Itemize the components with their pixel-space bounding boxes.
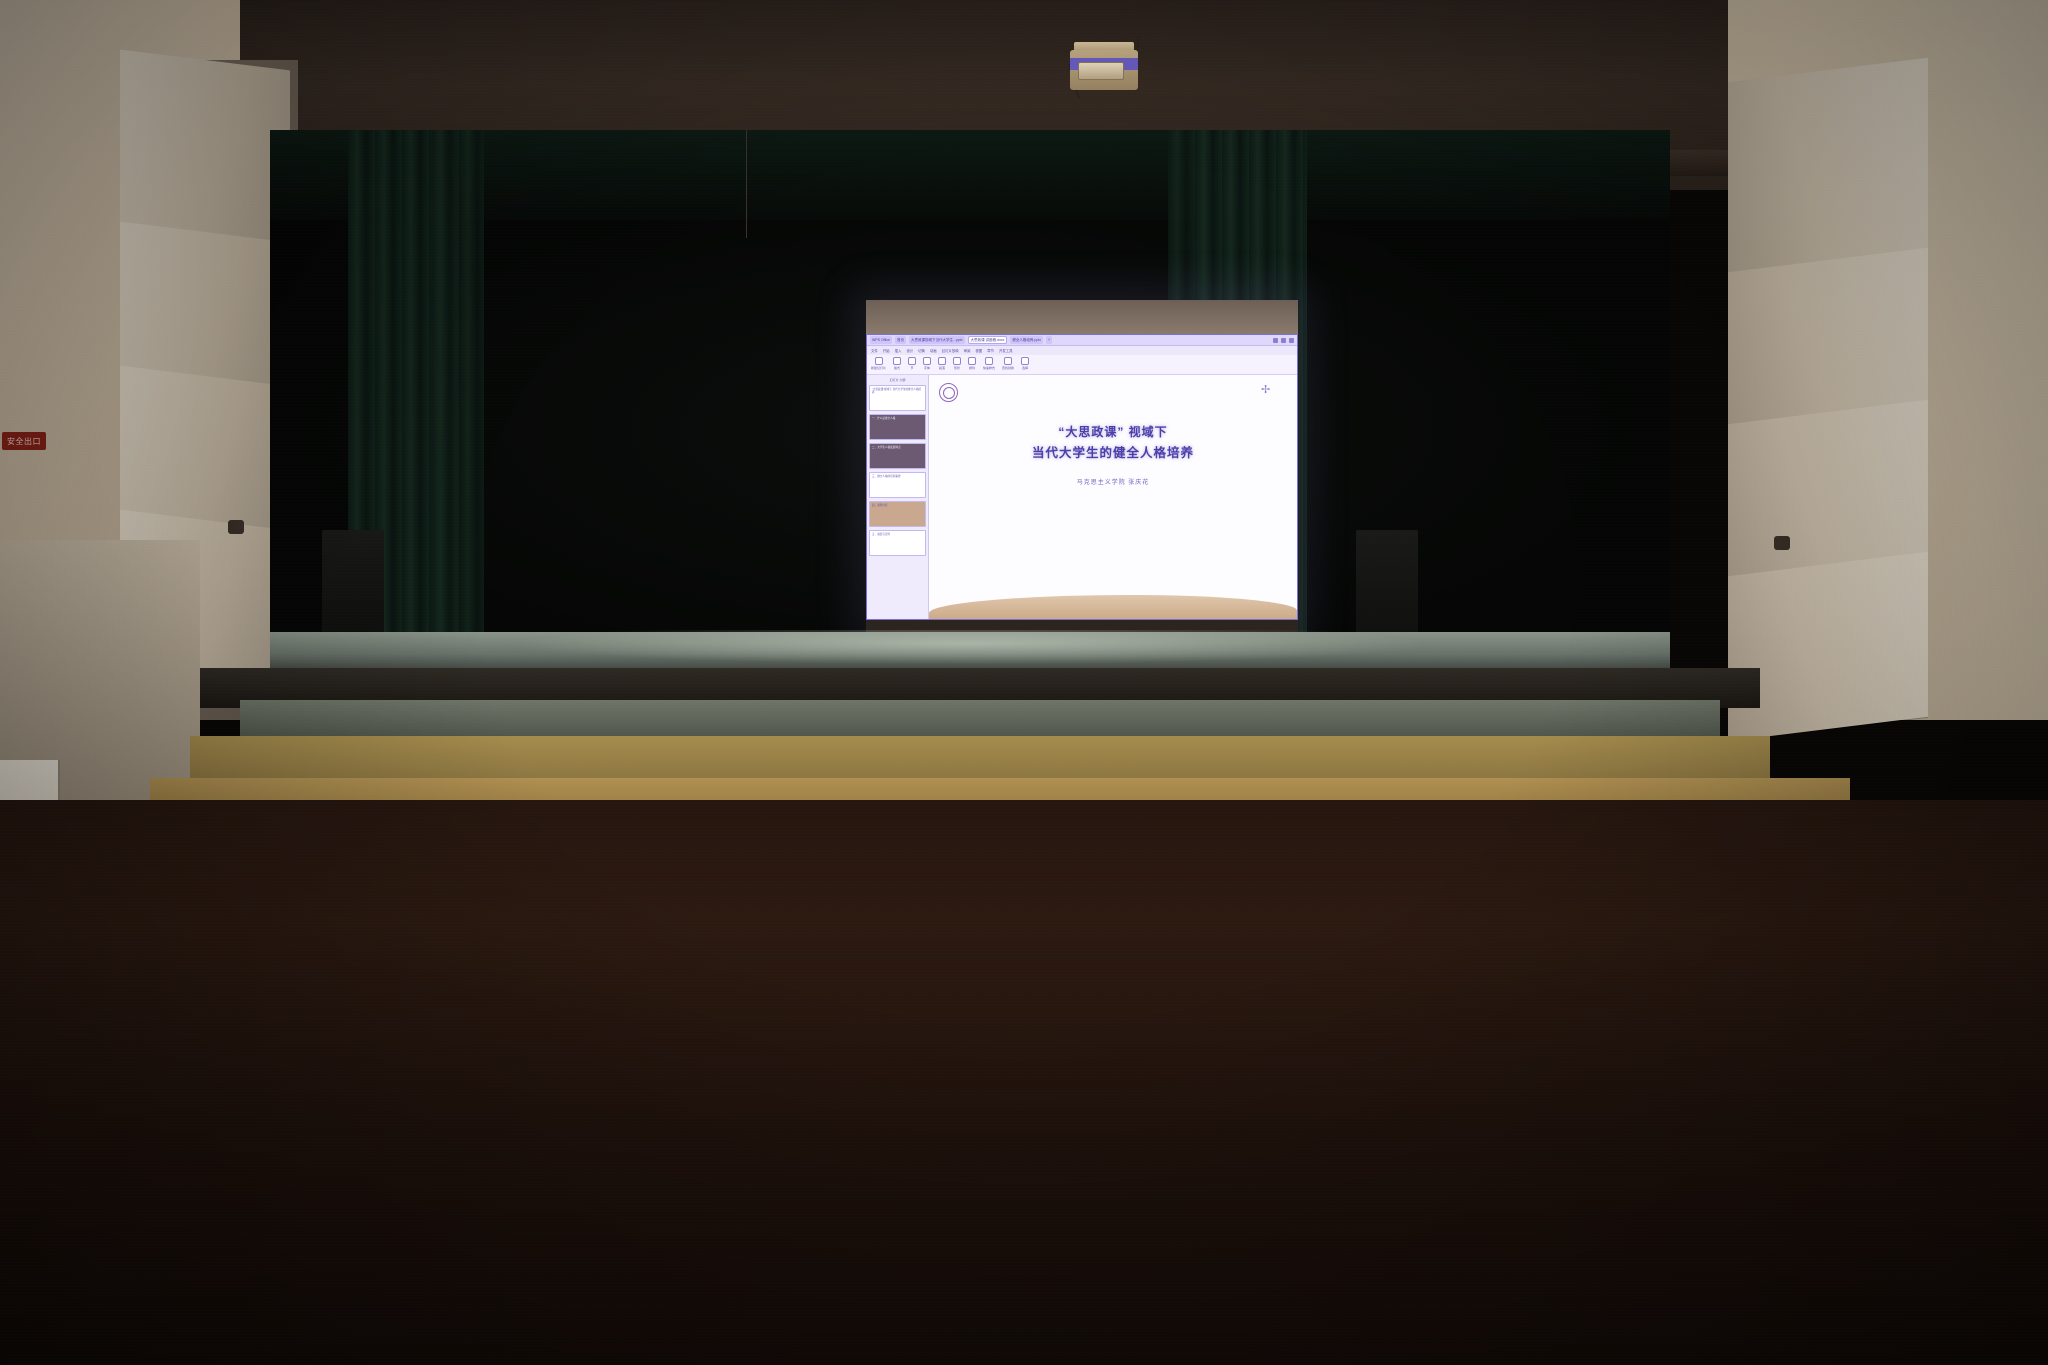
ribbon-label: 版式: [894, 366, 900, 370]
auditorium-photo: 安全出口 WPS Office 首页 大思政课视域下当代大学生...pptx 大…: [0, 0, 2048, 1365]
wall-fixture-right: [1774, 536, 1790, 550]
curtain-hanging-wire: [746, 130, 747, 238]
editor-body: 幻灯片 大纲 “大思政课”视域下 当代大学生的健全人格培养 一、什么是健全人格 …: [867, 375, 1297, 620]
screen-top-strip: [866, 300, 1298, 334]
ribbon-font[interactable]: 字体: [923, 357, 931, 370]
close-icon[interactable]: [1289, 338, 1294, 343]
window-controls[interactable]: [1273, 338, 1294, 343]
ribbon-arrange[interactable]: 排列: [968, 357, 976, 370]
document-tab-bar: WPS Office 首页 大思政课视域下当代大学生...pptx 大思政课 讲…: [867, 335, 1297, 346]
menu-item-home[interactable]: 开始: [883, 348, 890, 353]
projection-screen: WPS Office 首页 大思政课视域下当代大学生...pptx 大思政课 讲…: [866, 300, 1298, 632]
ribbon-select[interactable]: 选择: [1021, 357, 1029, 370]
stage-floor-light: [520, 630, 1420, 664]
tab-wps-office[interactable]: WPS Office: [870, 336, 892, 344]
slide-title-line-1: “大思政课” 视域下: [937, 423, 1289, 443]
ribbon-label: 段落: [939, 366, 945, 370]
ribbon-paragraph[interactable]: 段落: [938, 357, 946, 370]
slide-canvas[interactable]: ✢ “大思政课” 视域下 当代大学生的健全人格培养 马克思主义学院 张庆花: [929, 375, 1297, 620]
acoustic-panel-left-1: [120, 50, 290, 251]
menu-item-transition[interactable]: 切换: [918, 348, 925, 353]
style-icon: [985, 357, 993, 365]
slide-thumbnail[interactable]: “大思政课”视域下 当代大学生的健全人格培养: [869, 385, 926, 411]
ribbon-shape[interactable]: 形状: [953, 357, 961, 370]
acoustic-panel-right-4: [1728, 552, 1928, 742]
select-icon: [1021, 357, 1029, 365]
menu-item-devtools[interactable]: 开发工具: [999, 348, 1013, 353]
slide-thumbnail-panel[interactable]: 幻灯片 大纲 “大思政课”视域下 当代大学生的健全人格培养 一、什么是健全人格 …: [867, 375, 929, 620]
menu-item-review[interactable]: 审阅: [964, 348, 971, 353]
tab-docx-script[interactable]: 大思政课 讲座稿.docx: [968, 336, 1008, 344]
acoustic-panel-left-3: [120, 366, 290, 537]
ribbon-label: 选择: [1022, 366, 1028, 370]
menu-item-slideshow[interactable]: 幻灯片放映: [942, 348, 959, 353]
projector-lens-icon: [1078, 62, 1124, 80]
tab-pptx-main[interactable]: 大思政课视域下当代大学生...pptx: [909, 336, 965, 344]
slide-thumbnail[interactable]: 四、案例分析: [869, 501, 926, 527]
ribbon-label: 快速样式: [983, 366, 995, 370]
slide-decorative-wave: [929, 595, 1297, 620]
menu-item-view[interactable]: 视图: [975, 348, 982, 353]
tab-new[interactable]: +: [1046, 336, 1052, 344]
layout-icon: [893, 357, 901, 365]
slide-thumbnail[interactable]: 五、总结与思考: [869, 530, 926, 556]
tab-home[interactable]: 首页: [895, 336, 906, 344]
ceiling-projector-icon: [1064, 36, 1144, 92]
arrange-icon: [968, 357, 976, 365]
ribbon-new-slide[interactable]: 新建幻灯片: [871, 357, 886, 370]
menu-item-file[interactable]: 文件: [871, 348, 878, 353]
ribbon-label: 排列: [969, 366, 975, 370]
ribbon-layout[interactable]: 版式: [893, 357, 901, 370]
exit-sign: 安全出口: [2, 432, 46, 450]
menu-item-insert[interactable]: 插入: [895, 348, 902, 353]
slide-thumbnail[interactable]: 一、什么是健全人格: [869, 414, 926, 440]
maximize-icon[interactable]: [1281, 338, 1286, 343]
ribbon-find-replace[interactable]: 查找替换: [1002, 357, 1014, 370]
find-icon: [1004, 357, 1012, 365]
new-slide-icon: [875, 357, 883, 365]
audience-area: 5 5: [0, 800, 2048, 1365]
ribbon-label: 字体: [924, 366, 930, 370]
slide-thumbnail[interactable]: 二、大学生人格发展特点: [869, 443, 926, 469]
stage-curtain-left-inner: [432, 130, 484, 675]
ribbon-label: 形状: [954, 366, 960, 370]
menu-item-design[interactable]: 设计: [906, 348, 913, 353]
slide-presenter: 马克思主义学院 张庆花: [937, 477, 1289, 486]
paragraph-icon: [938, 357, 946, 365]
font-icon: [923, 357, 931, 365]
acoustic-panel-right-1: [1728, 58, 1928, 283]
ribbon-section[interactable]: 节: [908, 357, 916, 370]
slide-title-line-2: 当代大学生的健全人格培养: [937, 443, 1289, 464]
ribbon-quick-style[interactable]: 快速样式: [983, 357, 995, 370]
slide-title: “大思政课” 视域下 当代大学生的健全人格培养: [937, 423, 1289, 463]
ribbon-toolbar[interactable]: 新建幻灯片 版式 节 字体 段落: [867, 355, 1297, 375]
ribbon-label: 查找替换: [1002, 366, 1014, 370]
ribbon-label: 节: [911, 366, 914, 370]
acoustic-panel-left-2: [120, 222, 290, 393]
university-seal-icon: [939, 383, 958, 402]
tab-pptx-secondary[interactable]: 健全人格培养.pptx: [1010, 336, 1043, 344]
minimize-icon[interactable]: [1273, 338, 1278, 343]
menu-item-animation[interactable]: 动画: [930, 348, 937, 353]
stage-step-lower: [190, 736, 1770, 784]
menu-bar[interactable]: 文件 开始 插入 设计 切换 动画 幻灯片放映 审阅 视图 章节 开发工具: [867, 346, 1297, 355]
wall-fixture-left: [228, 520, 244, 534]
flying-bird-icon: ✢: [1261, 385, 1283, 401]
section-icon: [908, 357, 916, 365]
thumbnail-panel-header: 幻灯片 大纲: [869, 378, 926, 382]
menu-item-section[interactable]: 章节: [987, 348, 994, 353]
shape-icon: [953, 357, 961, 365]
slide-thumbnail[interactable]: 三、健全人格的培养路径: [869, 472, 926, 498]
ribbon-label: 新建幻灯片: [871, 366, 886, 370]
powerpoint-window: WPS Office 首页 大思政课视域下当代大学生...pptx 大思政课 讲…: [866, 334, 1298, 620]
